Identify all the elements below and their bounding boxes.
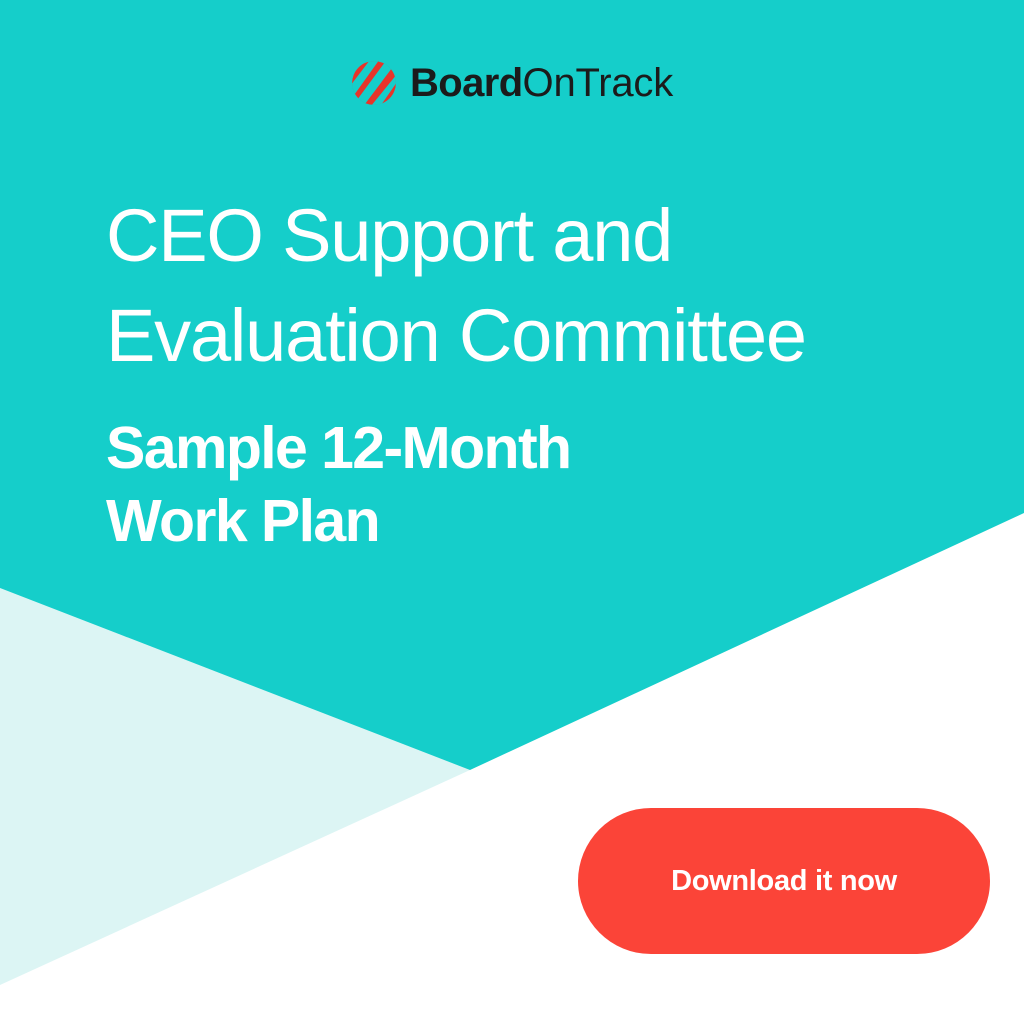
subhead-line-1: Sample 12-Month bbox=[106, 386, 986, 485]
subhead-line-2: Work Plan bbox=[106, 485, 986, 558]
brand-wordmark-light: OnTrack bbox=[523, 63, 673, 103]
brand-wordmark: BoardOnTrack bbox=[410, 63, 673, 103]
download-it-now-button[interactable]: Download it now bbox=[578, 808, 990, 954]
boardontrack-circle-logo-icon bbox=[351, 60, 397, 106]
headline-line-1: CEO Support and bbox=[106, 186, 986, 286]
promo-card: BoardOnTrack CEO Support and Evaluation … bbox=[0, 0, 1024, 1024]
brand-logo[interactable]: BoardOnTrack bbox=[0, 52, 1024, 114]
headline-line-2: Evaluation Committee bbox=[106, 286, 986, 386]
hero-copy: CEO Support and Evaluation Committee Sam… bbox=[106, 186, 986, 558]
brand-wordmark-bold: Board bbox=[410, 63, 523, 103]
